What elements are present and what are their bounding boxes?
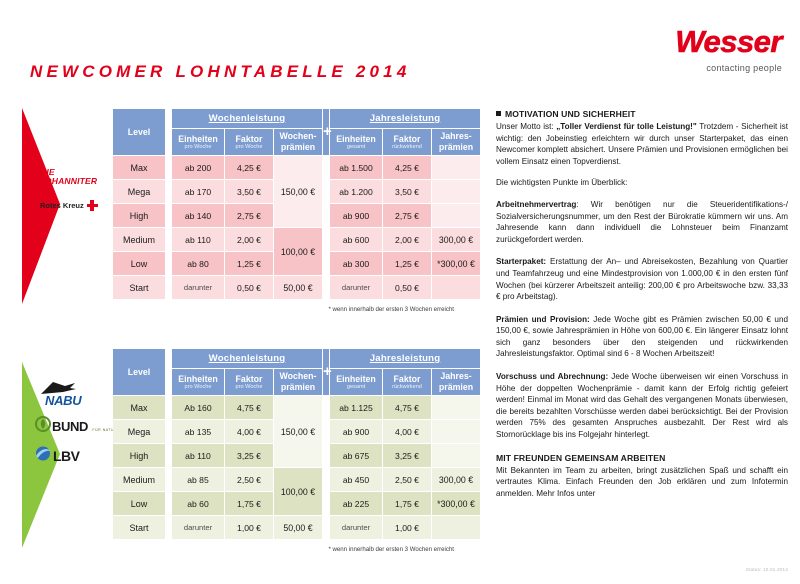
- table-row: Max ab 200 4,25 € 150,00 € ab 1.500 4,25…: [113, 156, 480, 179]
- cell-faktor-jahr: 1,00 €: [383, 516, 431, 539]
- col-header-jahrespraemien: Jahres- prämien: [432, 129, 480, 155]
- label-arbeitnehmervertrag: Arbeitnehmervertrag: [496, 200, 576, 209]
- lbv-label: LBV: [53, 448, 80, 464]
- cell-einheiten-jahr: ab 300: [330, 252, 382, 275]
- johanniter-logo: DIE JOHANNITER: [40, 168, 98, 186]
- cell-einheiten-jahr: ab 675: [330, 444, 382, 467]
- spacer-cell: [166, 204, 171, 227]
- group-header-week: Wochenleistung: [172, 109, 322, 128]
- spacer-cell: [323, 180, 329, 203]
- cell-wochenpraemie: 50,00 €: [274, 516, 322, 539]
- cell-einheiten-jahr: ab 1.500: [330, 156, 382, 179]
- paragraph-motivation: Unser Motto ist: „Toller Verdienst für t…: [496, 121, 788, 167]
- cell-jahrespraemie: [432, 396, 480, 419]
- cell-jahrespraemie: [432, 516, 480, 539]
- label-praemien-provision: Prämien und Provision:: [496, 315, 590, 324]
- cell-faktor-woche: 2,50 €: [225, 468, 273, 491]
- spacer-cell: [166, 228, 171, 251]
- spacer-cell: [166, 516, 171, 539]
- col-header-level: Level: [113, 109, 165, 155]
- pay-table-red: Level Wochenleistung + Jahresleistung Ei…: [112, 108, 481, 300]
- cell-faktor-jahr: 1,25 €: [383, 252, 431, 275]
- page-title: NEWCOMER LOHNTABELLE 2014: [30, 62, 411, 82]
- group-header-year: Jahresleistung: [330, 349, 480, 368]
- cell-einheiten-woche: ab 135: [172, 420, 224, 443]
- cell-einheiten-jahr: darunter: [330, 516, 382, 539]
- cell-wochenpraemie: 100,00 €: [274, 468, 322, 515]
- cell-faktor-jahr: 4,75 €: [383, 396, 431, 419]
- red-cross-icon: [87, 200, 98, 211]
- cell-faktor-jahr: 0,50 €: [383, 276, 431, 299]
- pay-table-green-wrapper: Level Wochenleistung + Jahresleistung Ei…: [112, 348, 481, 553]
- spacer-cell: [323, 492, 329, 515]
- spacer-cell: [166, 468, 171, 491]
- spacer-cell: [323, 396, 329, 419]
- cell-jahrespraemie: *300,00 €: [432, 252, 480, 275]
- cell-jahrespraemie: [432, 156, 480, 179]
- cell-einheiten-jahr: ab 1.200: [330, 180, 382, 203]
- cell-faktor-woche: 2,75 €: [225, 204, 273, 227]
- paragraph-vorschuss-abrechnung: Vorschuss und Abrechnung: Jede Woche übe…: [496, 371, 788, 440]
- table-row: Start darunter 0,50 € 50,00 € darunter 0…: [113, 276, 480, 299]
- col-header-faktor-jahr: Faktor rückwirkend: [383, 369, 431, 395]
- cell-jahrespraemie: [432, 444, 480, 467]
- col-header-einheiten-woche: Einheiten pro Woche: [172, 369, 224, 395]
- status-date: Status: 10.01.2014: [746, 567, 788, 572]
- cell-faktor-woche: 2,00 €: [225, 228, 273, 251]
- cell-faktor-woche: 1,75 €: [225, 492, 273, 515]
- cell-faktor-jahr: 2,75 €: [383, 204, 431, 227]
- group-header-week: Wochenleistung: [172, 349, 322, 368]
- section-heading-freunde: MIT FREUNDEN GEMEINSAM ARBEITEN: [496, 452, 788, 464]
- bund-leaf-icon: [35, 416, 51, 437]
- cell-einheiten-jahr: ab 450: [330, 468, 382, 491]
- label-starterpaket: Starterpaket:: [496, 257, 546, 266]
- table-row: Medium ab 85 2,50 € 100,00 € ab 450 2,50…: [113, 468, 480, 491]
- group-header-year: Jahresleistung: [330, 109, 480, 128]
- cell-faktor-woche: 1,25 €: [225, 252, 273, 275]
- lbv-swoosh-icon: [35, 446, 52, 466]
- cell-einheiten-woche: ab 60: [172, 492, 224, 515]
- cell-level: Max: [113, 396, 165, 419]
- cell-level: Low: [113, 252, 165, 275]
- cell-einheiten-woche: ab 110: [172, 228, 224, 251]
- spacer-cell: [166, 180, 171, 203]
- cell-faktor-jahr: 4,00 €: [383, 420, 431, 443]
- table-group-header-row: Level Wochenleistung + Jahresleistung: [113, 109, 480, 128]
- cell-wochenpraemie: 150,00 €: [274, 156, 322, 227]
- label-vorschuss-abrechnung: Vorschuss und Abrechnung:: [496, 372, 608, 381]
- paragraph-freunde: Mit Bekannten im Team zu arbeiten, bring…: [496, 465, 788, 500]
- cell-faktor-woche: 4,75 €: [225, 396, 273, 419]
- cell-einheiten-woche: ab 200: [172, 156, 224, 179]
- nabu-logo: NABU: [35, 382, 97, 408]
- cell-faktor-woche: 1,00 €: [225, 516, 273, 539]
- spacer-cell: [166, 492, 171, 515]
- cell-jahrespraemie: 300,00 €: [432, 468, 480, 491]
- table-row: Max Ab 160 4,75 € 150,00 € ab 1.125 4,75…: [113, 396, 480, 419]
- cell-faktor-jahr: 4,25 €: [383, 156, 431, 179]
- cell-einheiten-woche: ab 140: [172, 204, 224, 227]
- cell-faktor-woche: 4,00 €: [225, 420, 273, 443]
- table-group-header-row: Level Wochenleistung + Jahresleistung: [113, 349, 480, 368]
- spacer-cell: [323, 252, 329, 275]
- spacer-cell: [323, 204, 329, 227]
- spacer-cell: [166, 252, 171, 275]
- table-row: Medium ab 110 2,00 € 100,00 € ab 600 2,0…: [113, 228, 480, 251]
- col-header-einheiten-jahr: Einheiten gesamt: [330, 369, 382, 395]
- cell-level: Medium: [113, 228, 165, 251]
- spacer-cell: [166, 109, 171, 155]
- col-header-wochenpraemien: Wochen- prämien: [274, 129, 322, 155]
- paragraph-overview-intro: Die wichtigsten Punkte im Überblick:: [496, 177, 788, 189]
- cell-einheiten-jahr: ab 225: [330, 492, 382, 515]
- cell-einheiten-jahr: ab 600: [330, 228, 382, 251]
- paragraph-arbeitnehmervertrag: Arbeitnehmervertrag: Wir benötigen nur d…: [496, 199, 788, 245]
- cell-einheiten-woche: Ab 160: [172, 396, 224, 419]
- cell-einheiten-woche: ab 170: [172, 180, 224, 203]
- cell-einheiten-woche: ab 85: [172, 468, 224, 491]
- cell-faktor-jahr: 3,25 €: [383, 444, 431, 467]
- cell-faktor-woche: 3,25 €: [225, 444, 273, 467]
- cell-einheiten-woche: ab 110: [172, 444, 224, 467]
- nabu-label: NABU: [45, 393, 81, 408]
- col-header-einheiten-jahr: Einheiten gesamt: [330, 129, 382, 155]
- section-heading-motivation: MOTIVATION UND SICHERHEIT: [496, 108, 788, 120]
- spacer-cell: [166, 349, 171, 395]
- cell-faktor-jahr: 2,00 €: [383, 228, 431, 251]
- cell-level: High: [113, 204, 165, 227]
- footnote-green: * wenn innerhalb der ersten 3 Wochen err…: [112, 546, 456, 553]
- spacer-cell: [323, 276, 329, 299]
- johanniter-line2: JOHANNITER: [40, 177, 98, 186]
- spacer-cell: [323, 444, 329, 467]
- col-header-einheiten-woche: Einheiten pro Woche: [172, 129, 224, 155]
- cell-jahrespraemie: *300,00 €: [432, 492, 480, 515]
- spacer-cell: [166, 156, 171, 179]
- pay-table-red-wrapper: Level Wochenleistung + Jahresleistung Ei…: [112, 108, 481, 313]
- cell-level: Mega: [113, 180, 165, 203]
- motto-quote: „Toller Verdienst für tolle Leistung!": [556, 122, 697, 131]
- cell-wochenpraemie: 150,00 €: [274, 396, 322, 467]
- cell-faktor-jahr: 2,50 €: [383, 468, 431, 491]
- paragraph-praemien-provision: Prämien und Provision: Jede Woche gibt e…: [496, 314, 788, 360]
- col-header-wochenpraemien: Wochen- prämien: [274, 369, 322, 395]
- cell-jahrespraemie: [432, 180, 480, 203]
- cell-einheiten-woche: darunter: [172, 276, 224, 299]
- table-row: Start darunter 1,00 € 50,00 € darunter 1…: [113, 516, 480, 539]
- plus-separator: +: [323, 349, 329, 395]
- cell-einheiten-jahr: ab 900: [330, 204, 382, 227]
- cell-einheiten-jahr: ab 1.125: [330, 396, 382, 419]
- cell-einheiten-woche: ab 80: [172, 252, 224, 275]
- bund-label: BUND: [52, 419, 88, 434]
- org-logos-red: DIE JOHANNITER Rotes Kreuz: [40, 168, 98, 211]
- col-header-faktor-woche: Faktor pro Woche: [225, 369, 273, 395]
- spacer-cell: [323, 156, 329, 179]
- rotes-kreuz-label: Rotes Kreuz: [40, 201, 84, 210]
- pay-table-green: Level Wochenleistung + Jahresleistung Ei…: [112, 348, 481, 540]
- footnote-red: * wenn innerhalb der ersten 3 Wochen err…: [112, 306, 456, 313]
- spacer-cell: [323, 468, 329, 491]
- spacer-cell: [166, 420, 171, 443]
- paragraph-starterpaket: Starterpaket: Erstattung der An– und Abr…: [496, 256, 788, 302]
- cell-jahrespraemie: [432, 420, 480, 443]
- cell-faktor-jahr: 1,75 €: [383, 492, 431, 515]
- wesser-logo: Wesser contacting people: [622, 26, 782, 73]
- square-bullet-icon: [496, 111, 501, 116]
- cell-jahrespraemie: [432, 204, 480, 227]
- cell-level: Mega: [113, 420, 165, 443]
- spacer-cell: [323, 228, 329, 251]
- col-header-level: Level: [113, 349, 165, 395]
- cell-wochenpraemie: 50,00 €: [274, 276, 322, 299]
- spacer-cell: [166, 396, 171, 419]
- cell-einheiten-jahr: ab 900: [330, 420, 382, 443]
- cell-faktor-woche: 0,50 €: [225, 276, 273, 299]
- cell-faktor-woche: 4,25 €: [225, 156, 273, 179]
- cell-einheiten-woche: darunter: [172, 516, 224, 539]
- spacer-cell: [166, 444, 171, 467]
- cell-level: Start: [113, 276, 165, 299]
- spacer-cell: [166, 276, 171, 299]
- col-header-faktor-jahr: Faktor rückwirkend: [383, 129, 431, 155]
- cell-jahrespraemie: 300,00 €: [432, 228, 480, 251]
- cell-einheiten-jahr: darunter: [330, 276, 382, 299]
- col-header-jahrespraemien: Jahres- prämien: [432, 369, 480, 395]
- cell-faktor-jahr: 3,50 €: [383, 180, 431, 203]
- plus-separator: +: [323, 109, 329, 155]
- cell-jahrespraemie: [432, 276, 480, 299]
- cell-faktor-woche: 3,50 €: [225, 180, 273, 203]
- cell-level: Medium: [113, 468, 165, 491]
- cell-level: Max: [113, 156, 165, 179]
- info-text-column: MOTIVATION UND SICHERHEIT Unser Motto is…: [496, 108, 788, 499]
- cell-level: Low: [113, 492, 165, 515]
- spacer-cell: [323, 420, 329, 443]
- rotes-kreuz-logo: Rotes Kreuz: [40, 200, 98, 211]
- col-header-faktor-woche: Faktor pro Woche: [225, 129, 273, 155]
- cell-level: Start: [113, 516, 165, 539]
- brand-tagline: contacting people: [622, 63, 782, 73]
- spacer-cell: [323, 516, 329, 539]
- cell-wochenpraemie: 100,00 €: [274, 228, 322, 275]
- cell-level: High: [113, 444, 165, 467]
- brand-name: Wesser: [622, 26, 782, 57]
